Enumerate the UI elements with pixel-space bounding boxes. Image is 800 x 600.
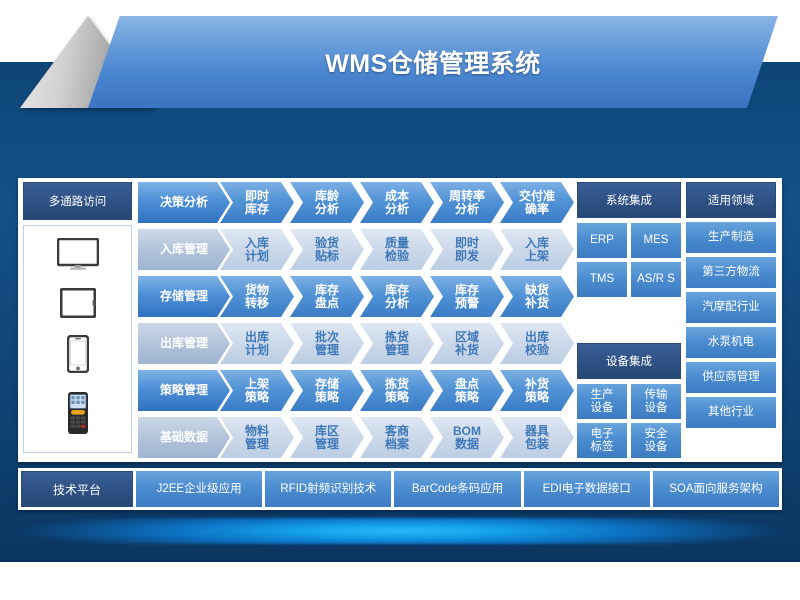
process-step[interactable]: 存储策略	[290, 370, 364, 411]
domain-item[interactable]: 供应商管理	[686, 362, 776, 393]
device-integration-item[interactable]: 传输设备	[631, 384, 681, 419]
process-step[interactable]: 拣货策略	[360, 370, 434, 411]
process-step[interactable]: 质量检验	[360, 229, 434, 270]
process-step[interactable]: 批次管理	[290, 323, 364, 364]
domain-header: 适用领域	[686, 182, 776, 218]
process-row: 入库管理入库计划验货贴标质量检验即时即发入库上架	[138, 229, 574, 270]
device-integration-item[interactable]: 安全设备	[631, 423, 681, 458]
tech-platform-item[interactable]: J2EE企业级应用	[136, 471, 262, 507]
system-integration-item[interactable]: MES	[631, 223, 681, 258]
access-column: 多通路访问	[18, 178, 136, 462]
domain-item[interactable]: 第三方物流	[686, 257, 776, 288]
system-integration-item[interactable]: AS/R S	[631, 262, 681, 297]
tablet-icon	[60, 288, 96, 323]
spacer	[577, 297, 681, 343]
process-step[interactable]: 客商档案	[360, 417, 434, 458]
process-step[interactable]: 即时库存	[220, 182, 294, 223]
process-row: 存储管理货物转移库存盘点库存分析库存预警缺货补货	[138, 276, 574, 317]
tech-platform-header: 技术平台	[21, 471, 133, 507]
smartphone-icon	[67, 335, 89, 378]
device-list	[23, 225, 132, 453]
process-step[interactable]: 盘点策略	[430, 370, 504, 411]
integration-column: 系统集成 ERPMESTMSAS/R S 设备集成 生产设备传输设备电子标签安全…	[574, 178, 684, 462]
process-category-1[interactable]: 决策分析	[138, 182, 230, 223]
process-category-2[interactable]: 入库管理	[138, 229, 230, 270]
process-step[interactable]: 即时即发	[430, 229, 504, 270]
process-step[interactable]: 区域补货	[430, 323, 504, 364]
system-integration-item[interactable]: TMS	[577, 262, 627, 297]
process-row: 决策分析即时库存库龄分析成本分析周转率分析交付准确率	[138, 182, 574, 223]
monitor-icon	[57, 238, 99, 275]
domain-item[interactable]: 水泵机电	[686, 327, 776, 358]
process-step[interactable]: 入库计划	[220, 229, 294, 270]
process-step[interactable]: 库区管理	[290, 417, 364, 458]
process-step[interactable]: 成本分析	[360, 182, 434, 223]
device-integration-header: 设备集成	[577, 343, 681, 379]
system-integration-items: ERPMESTMSAS/R S	[577, 223, 681, 297]
device-integration-item[interactable]: 电子标签	[577, 423, 627, 458]
tech-platform-item[interactable]: EDI电子数据接口	[524, 471, 650, 507]
process-step[interactable]: 入库上架	[500, 229, 574, 270]
process-category-6[interactable]: 基础数据	[138, 417, 230, 458]
device-integration-item[interactable]: 生产设备	[577, 384, 627, 419]
domain-item[interactable]: 生产制造	[686, 222, 776, 253]
process-step[interactable]: 缺货补货	[500, 276, 574, 317]
pda-scanner-icon	[66, 391, 90, 440]
domain-item[interactable]: 汽摩配行业	[686, 292, 776, 323]
tech-platform-item[interactable]: BarCode条码应用	[394, 471, 520, 507]
bottom-glow	[0, 518, 800, 544]
tech-platform-items: J2EE企业级应用RFID射频识别技术BarCode条码应用EDI电子数据接口S…	[133, 471, 779, 507]
process-step[interactable]: 补货策略	[500, 370, 574, 411]
process-row: 策略管理上架策略存储策略拣货策略盘点策略补货策略	[138, 370, 574, 411]
process-step[interactable]: 物料管理	[220, 417, 294, 458]
device-integration-items: 生产设备传输设备电子标签安全设备	[577, 384, 681, 458]
tech-platform-item[interactable]: SOA面向服务架构	[653, 471, 779, 507]
process-step[interactable]: 拣货管理	[360, 323, 434, 364]
slide-canvas: WMS仓储管理系统 多通路访问	[0, 0, 800, 600]
system-integration-item[interactable]: ERP	[577, 223, 627, 258]
domain-column: 适用领域 生产制造第三方物流汽摩配行业水泵机电供应商管理其他行业	[684, 178, 780, 462]
process-step[interactable]: 交付准确率	[500, 182, 574, 223]
process-category-3[interactable]: 存储管理	[138, 276, 230, 317]
process-step[interactable]: 货物转移	[220, 276, 294, 317]
process-step[interactable]: 验货贴标	[290, 229, 364, 270]
process-row: 基础数据物料管理库区管理客商档案BOM数据器具包装	[138, 417, 574, 458]
process-step[interactable]: 器具包装	[500, 417, 574, 458]
process-step[interactable]: 出库计划	[220, 323, 294, 364]
process-step[interactable]: 库龄分析	[290, 182, 364, 223]
process-step[interactable]: BOM数据	[430, 417, 504, 458]
system-integration-header: 系统集成	[577, 182, 681, 218]
process-step[interactable]: 库存预警	[430, 276, 504, 317]
process-row: 出库管理出库计划批次管理拣货管理区域补货出库校验	[138, 323, 574, 364]
tech-platform-bar: 技术平台 J2EE企业级应用RFID射频识别技术BarCode条码应用EDI电子…	[18, 468, 782, 510]
process-matrix: 决策分析即时库存库龄分析成本分析周转率分析交付准确率入库管理入库计划验货贴标质量…	[136, 178, 574, 462]
process-category-4[interactable]: 出库管理	[138, 323, 230, 364]
process-step[interactable]: 上架策略	[220, 370, 294, 411]
process-step[interactable]: 周转率分析	[430, 182, 504, 223]
main-body-panel: 多通路访问	[18, 178, 782, 462]
process-step[interactable]: 库存分析	[360, 276, 434, 317]
domain-items: 生产制造第三方物流汽摩配行业水泵机电供应商管理其他行业	[686, 218, 776, 428]
domain-item[interactable]: 其他行业	[686, 397, 776, 428]
page-title: WMS仓储管理系统	[88, 16, 778, 108]
process-category-5[interactable]: 策略管理	[138, 370, 230, 411]
tech-platform-item[interactable]: RFID射频识别技术	[265, 471, 391, 507]
process-step[interactable]: 库存盘点	[290, 276, 364, 317]
roof-banner: WMS仓储管理系统	[0, 0, 800, 125]
process-step[interactable]: 出库校验	[500, 323, 574, 364]
access-header: 多通路访问	[23, 182, 132, 220]
